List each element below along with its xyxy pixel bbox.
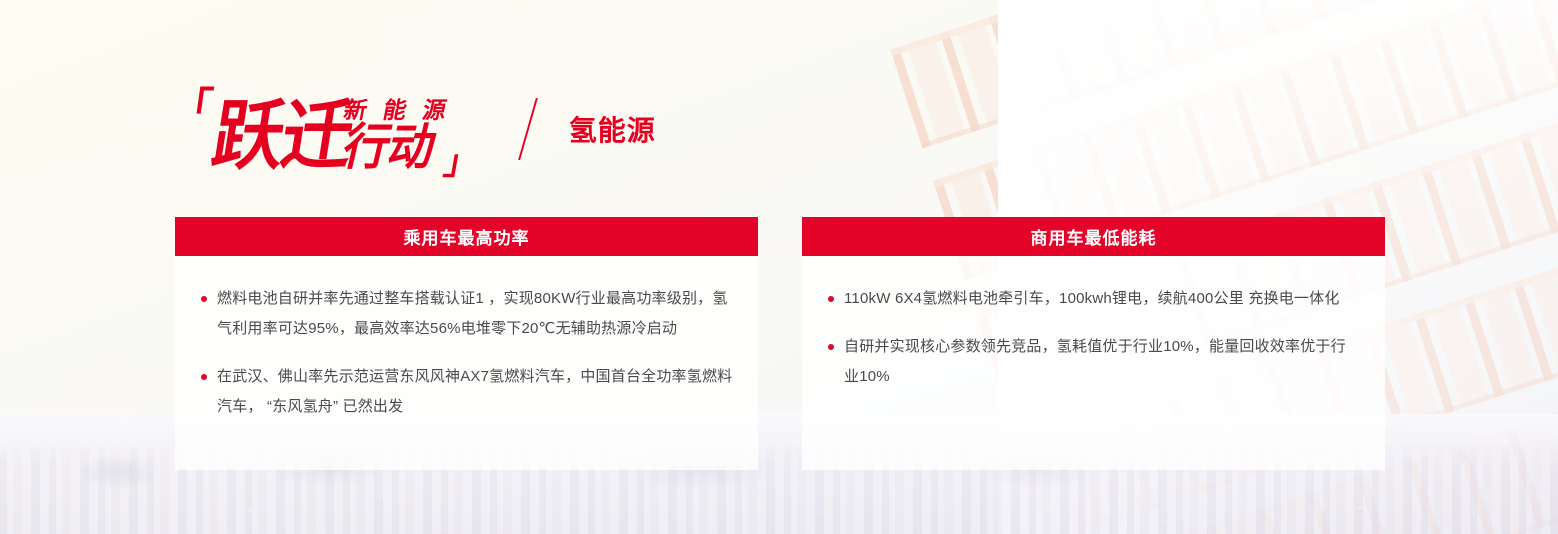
bullet-list-passenger-vehicle: 燃料电池自研并率先通过整车搭载认证1 ，实现80KW行业最高功率级别，氢气利用率… <box>191 284 734 422</box>
list-item: 燃料电池自研并率先通过整车搭载认证1 ，实现80KW行业最高功率级别，氢气利用率… <box>191 284 734 344</box>
slash-divider-icon <box>518 98 538 160</box>
skyline-lights <box>0 476 1558 528</box>
logo-sub-stack: 新 能 源 行动 <box>344 99 451 170</box>
panel-body-passenger-vehicle: 燃料电池自研并率先通过整车搭载认证1 ，实现80KW行业最高功率级别，氢气利用率… <box>175 256 758 470</box>
panel-body-commercial-vehicle: 110kW 6X4氢燃料电池牵引车，100kwh锂电，续航400公里 充换电一体… <box>802 256 1385 470</box>
leap-action-logo: 「 跃迁 新 能 源 行动 「 <box>172 80 479 172</box>
hydrogen-energy-banner: 「 跃迁 新 能 源 行动 「 氢能源 乘用车最高功率 燃料电池自研并率先通过整… <box>0 0 1558 534</box>
lattice-band <box>890 0 1558 148</box>
logo-close-bracket-icon: 「 <box>442 142 482 176</box>
bullet-dot-icon <box>201 296 207 302</box>
list-item-text: 110kW 6X4氢燃料电池牵引车，100kwh锂电，续航400公里 充换电一体… <box>844 290 1340 307</box>
list-item-text: 燃料电池自研并率先通过整车搭载认证1 ，实现80KW行业最高功率级别，氢气利用率… <box>217 290 728 337</box>
bullet-dot-icon <box>201 374 207 380</box>
brand-logo-lockup: 「 跃迁 新 能 源 行动 「 氢能源 <box>172 78 656 174</box>
list-item-text: 自研并实现核心参数领先竞品，氢耗值优于行业10%，能量回收效率优于行业10% <box>844 338 1346 385</box>
panel-header-passenger-vehicle: 乘用车最高功率 <box>175 217 758 256</box>
list-item: 自研并实现核心参数领先竞品，氢耗值优于行业10%，能量回收效率优于行业10% <box>818 332 1361 392</box>
panel-passenger-vehicle: 乘用车最高功率 燃料电池自研并率先通过整车搭载认证1 ，实现80KW行业最高功率… <box>175 217 758 470</box>
panel-header-commercial-vehicle: 商用车最低能耗 <box>802 217 1385 256</box>
panel-group: 乘用车最高功率 燃料电池自研并率先通过整车搭载认证1 ，实现80KW行业最高功率… <box>175 217 1386 470</box>
logo-open-bracket-icon: 「 <box>169 88 215 128</box>
panel-commercial-vehicle: 商用车最低能耗 110kW 6X4氢燃料电池牵引车，100kwh锂电，续航400… <box>802 217 1385 470</box>
list-item: 110kW 6X4氢燃料电池牵引车，100kwh锂电，续航400公里 充换电一体… <box>818 284 1361 314</box>
bullet-dot-icon <box>828 344 834 350</box>
list-item: 在武汉、佛山率先示范运营东风风神AX7氢燃料汽车，中国首台全功率氢燃料汽车， “… <box>191 362 734 422</box>
page-title: 氢能源 <box>569 117 656 145</box>
logo-main-text: 跃迁 <box>208 102 356 172</box>
logo-action-text: 行动 <box>339 125 457 172</box>
list-item-text: 在武汉、佛山率先示范运营东风风神AX7氢燃料汽车，中国首台全功率氢燃料汽车， “… <box>217 368 732 415</box>
bullet-dot-icon <box>828 296 834 302</box>
bullet-list-commercial-vehicle: 110kW 6X4氢燃料电池牵引车，100kwh锂电，续航400公里 充换电一体… <box>818 284 1361 392</box>
